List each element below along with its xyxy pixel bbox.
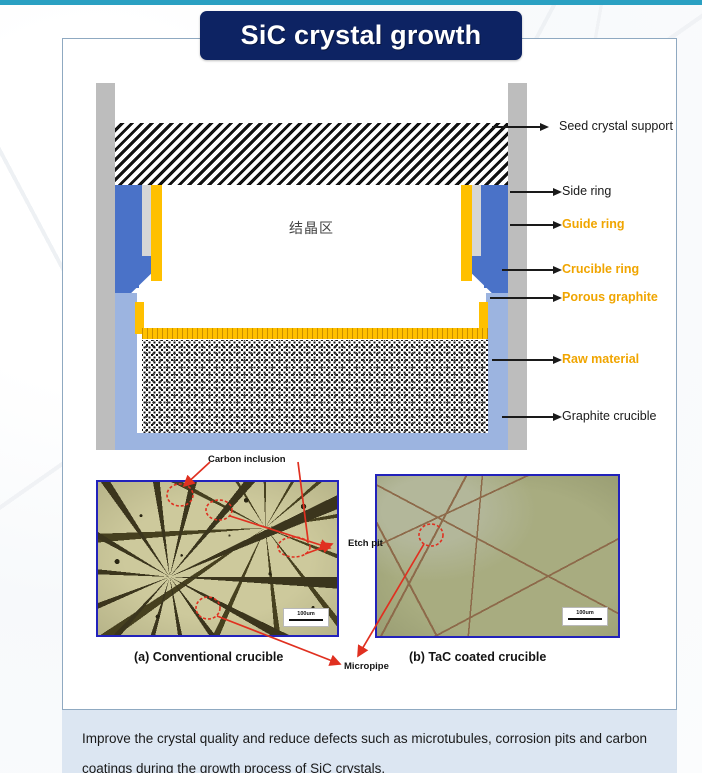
- summary-caption-box: Improve the crystal quality and reduce d…: [62, 710, 677, 773]
- micrograph-section: 100um 100um: [62, 440, 677, 690]
- leader-line-crucible-ring: [502, 269, 555, 271]
- crucible-liner-right: [486, 293, 508, 450]
- side-ring-left-taper: [115, 258, 151, 293]
- micrograph-caption-a: (a) Conventional crucible: [134, 650, 283, 664]
- annotation-carbon-inclusion: Carbon inclusion: [208, 454, 286, 465]
- crucible-diagram: 结晶区 Seed crystal support Side ring Guide…: [62, 38, 677, 458]
- callout-raw-material: Raw material: [562, 352, 639, 366]
- leader-line-porous-graphite: [490, 297, 555, 299]
- scale-bar-b-label: 100um: [563, 610, 607, 616]
- callout-graphite-crucible: Graphite crucible: [562, 409, 657, 423]
- micrograph-caption-b: (b) TaC coated crucible: [409, 650, 546, 664]
- seed-crystal-support: [115, 123, 508, 185]
- leader-line-graphite-crucible: [502, 416, 555, 418]
- crystallization-zone: [162, 185, 461, 328]
- summary-caption-text: Improve the crystal quality and reduce d…: [82, 724, 659, 773]
- leader-line-side-ring: [510, 191, 555, 193]
- callout-seed-crystal-support: Seed crystal support: [559, 119, 673, 133]
- page-root: SiC crystal growth 结晶区: [0, 0, 702, 773]
- porous-graphite-layer: [142, 328, 488, 339]
- scale-bar-a: 100um: [283, 608, 329, 627]
- graphite-wall-left: [96, 83, 115, 450]
- crystallization-zone-label: 结晶区: [162, 218, 461, 238]
- micrograph-conventional-crucible: 100um: [96, 480, 339, 637]
- scale-bar-a-label: 100um: [284, 611, 328, 617]
- leader-line-seed-crystal-support: [492, 126, 542, 128]
- annotation-micropipe: Micropipe: [344, 661, 389, 672]
- raw-material-region: [142, 340, 488, 433]
- micrograph-tac-coated-crucible: 100um: [375, 474, 620, 638]
- side-ring-right-taper: [472, 258, 508, 293]
- leader-line-raw-material: [492, 359, 555, 361]
- crucible-liner-left: [115, 293, 137, 450]
- scale-bar-b: 100um: [562, 607, 608, 626]
- callout-porous-graphite: Porous graphite: [562, 290, 658, 304]
- graphite-wall-right: [508, 83, 527, 450]
- leader-line-guide-ring: [510, 224, 555, 226]
- annotation-etch-pit: Etch pit: [348, 538, 383, 549]
- callout-side-ring: Side ring: [562, 184, 611, 198]
- callout-guide-ring: Guide ring: [562, 217, 625, 231]
- callout-crucible-ring: Crucible ring: [562, 262, 639, 276]
